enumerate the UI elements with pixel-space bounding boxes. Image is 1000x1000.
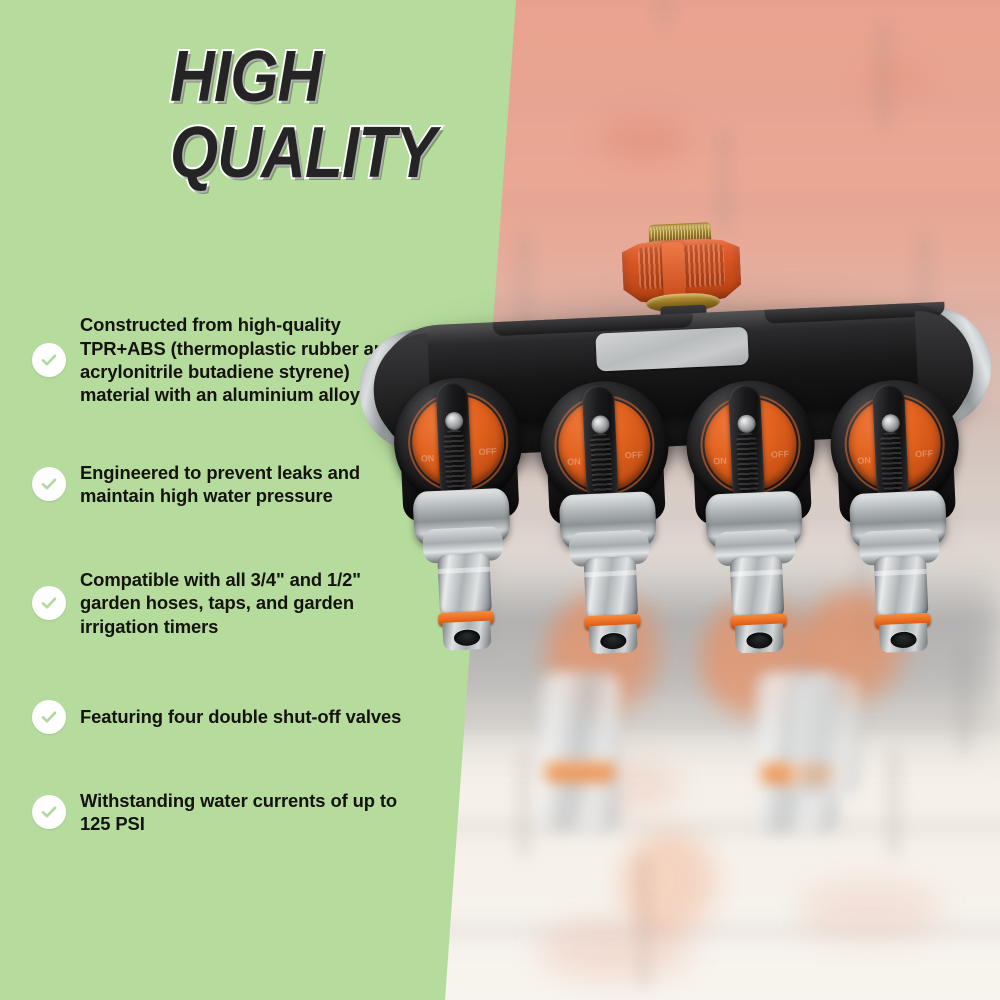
check-circle-icon bbox=[32, 467, 66, 501]
check-circle-icon bbox=[32, 343, 66, 377]
valve-mark-on: ON bbox=[713, 456, 727, 467]
valve-lever[interactable] bbox=[582, 385, 619, 504]
valve-2[interactable]: ON OFF bbox=[538, 378, 699, 684]
valve-mark-on: ON bbox=[567, 456, 581, 467]
list-item: Withstanding water currents of up to 125… bbox=[32, 772, 422, 852]
quick-connect-nozzle bbox=[874, 555, 929, 619]
check-circle-icon bbox=[32, 700, 66, 734]
ghost-fitting bbox=[790, 676, 860, 796]
valve-1[interactable]: ON OFF bbox=[391, 374, 552, 680]
valve-lever[interactable] bbox=[872, 384, 909, 503]
quick-connect-nozzle bbox=[584, 556, 639, 620]
list-item-label: Featuring four double shut-off valves bbox=[80, 705, 401, 728]
valve-3[interactable]: ON OFF bbox=[684, 377, 845, 683]
quick-connect-nozzle bbox=[437, 553, 492, 617]
brick-mottle bbox=[600, 120, 690, 160]
valve-mark-on: ON bbox=[857, 455, 871, 466]
brick-mottle bbox=[800, 880, 940, 940]
page-title: HIGH QUALITY bbox=[170, 44, 454, 186]
valve-mark-off: OFF bbox=[771, 449, 789, 460]
valve-lever[interactable] bbox=[728, 384, 765, 503]
check-circle-icon bbox=[32, 586, 66, 620]
list-item-label: Withstanding water currents of up to 125… bbox=[80, 789, 422, 836]
infographic-page: HIGH QUALITY Constructed from high-quali… bbox=[0, 0, 1000, 1000]
valve-4[interactable]: ON OFF bbox=[828, 376, 989, 682]
valve-lever[interactable] bbox=[435, 381, 472, 500]
inlet-connector bbox=[621, 221, 743, 326]
brick-mottle bbox=[860, 60, 930, 94]
valve-mark-on: ON bbox=[421, 453, 435, 464]
valve-mark-off: OFF bbox=[625, 450, 643, 461]
valve-mark-off: OFF bbox=[915, 448, 933, 459]
page-title-line-1: HIGH bbox=[170, 44, 454, 110]
bokeh-orange bbox=[620, 830, 730, 940]
list-item: Featuring four double shut-off valves bbox=[32, 662, 422, 772]
product-image: ON OFF ON OFF bbox=[352, 222, 1000, 642]
page-title-line-2: QUALITY bbox=[170, 120, 454, 186]
check-circle-icon bbox=[32, 795, 66, 829]
label-plate bbox=[595, 327, 749, 372]
quick-connect-nozzle bbox=[730, 555, 785, 619]
valve-mark-off: OFF bbox=[478, 446, 496, 457]
ghost-fitting bbox=[540, 672, 620, 832]
